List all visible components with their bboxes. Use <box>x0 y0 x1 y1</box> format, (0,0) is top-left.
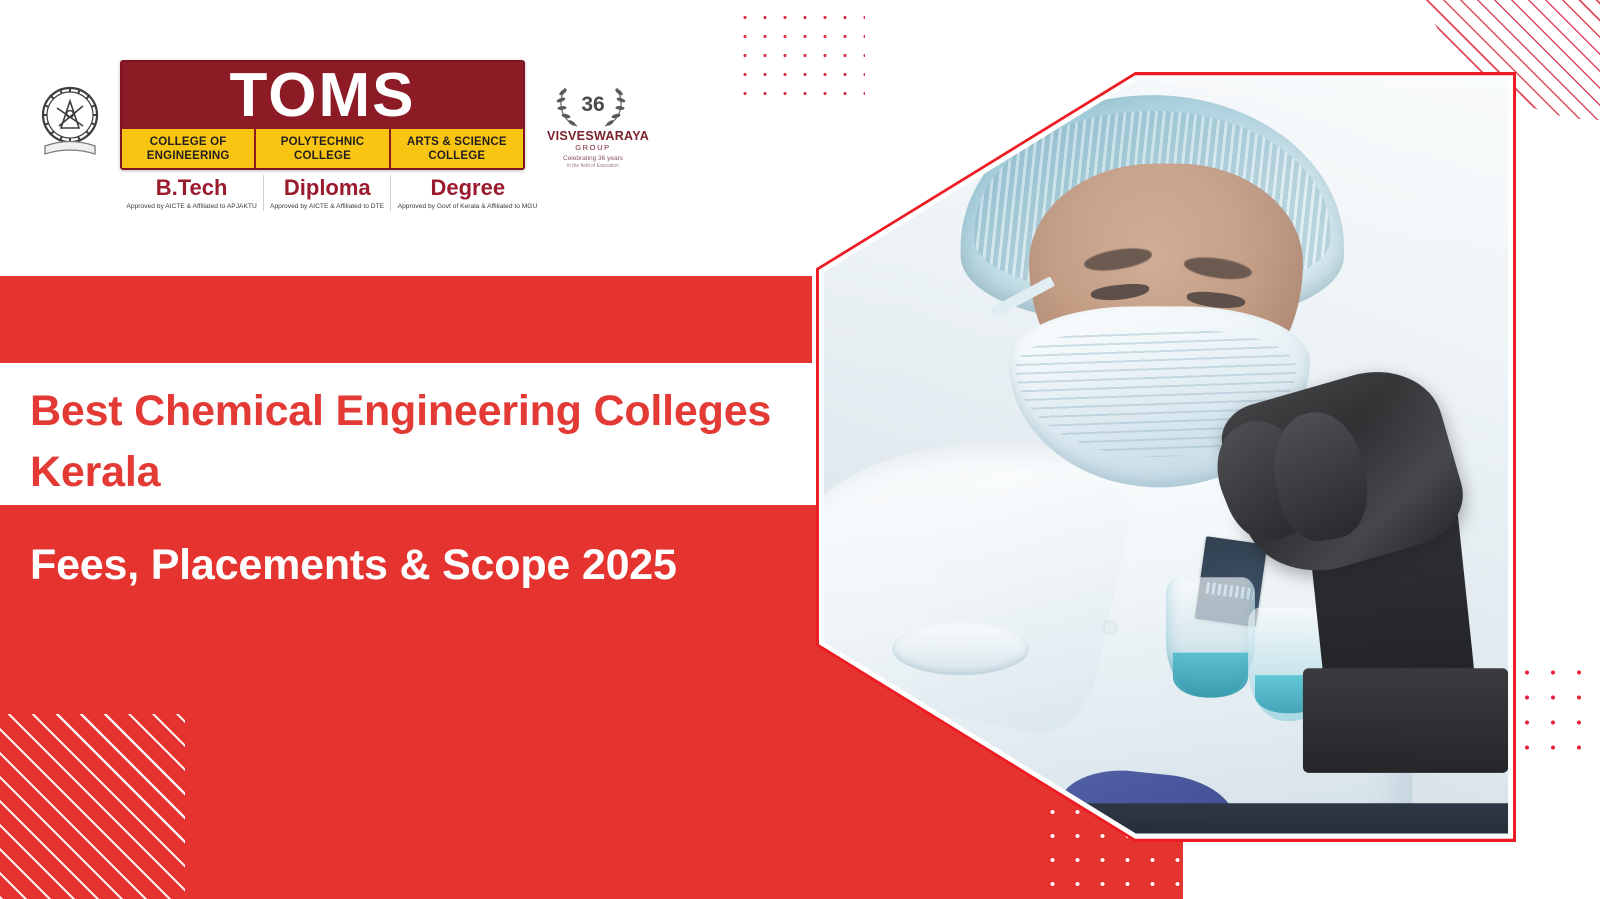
course-btech: B.Tech Approved by AICTE & Affiliated to… <box>120 175 264 212</box>
toms-crest-emblem-icon <box>34 84 106 164</box>
group-word: GROUP <box>547 143 639 152</box>
toms-acronym: TOMS <box>230 61 416 130</box>
anniversary-tagline: Celebrating 36 years <box>547 155 639 163</box>
division-arts-science: ARTS & SCIENCE COLLEGE <box>391 129 523 168</box>
hero-image-hexagon <box>816 72 1516 842</box>
course-strip: B.Tech Approved by AICTE & Affiliated to… <box>120 175 525 212</box>
red-band-upper <box>0 276 812 363</box>
group-name: VISVESWARAYA <box>547 130 639 143</box>
division-line-2: COLLEGE <box>258 149 386 163</box>
laboratory-scene-illustration <box>824 80 1509 833</box>
division-engineering: COLLEGE OF ENGINEERING <box>122 129 256 168</box>
anniversary-tagline-secondary: in the field of Education <box>547 163 639 169</box>
division-line-2: ENGINEERING <box>124 149 252 163</box>
toms-logo-card: TOMS COLLEGE OF ENGINEERING POLYTECHNIC … <box>120 60 525 170</box>
toms-division-bar: COLLEGE OF ENGINEERING POLYTECHNIC COLLE… <box>122 129 523 168</box>
toms-wordmark-block: TOMS COLLEGE OF ENGINEERING POLYTECHNIC … <box>120 60 525 211</box>
diagonal-stripe-pattern-bottom-left <box>0 714 185 899</box>
laurel-wreath-icon: 36 <box>547 78 639 130</box>
course-name: B.Tech <box>123 175 260 200</box>
division-line-1: ARTS & SCIENCE <box>393 135 521 149</box>
course-name: Diploma <box>267 175 387 200</box>
promo-banner: TOMS COLLEGE OF ENGINEERING POLYTECHNIC … <box>0 0 1600 899</box>
division-line-1: POLYTECHNIC <box>258 135 386 149</box>
toms-acronym-bar: TOMS <box>122 62 523 129</box>
hero-photo <box>824 80 1509 833</box>
course-name: Degree <box>394 175 541 200</box>
division-line-2: COLLEGE <box>393 149 521 163</box>
page-subtitle: Fees, Placements & Scope 2025 <box>30 536 790 596</box>
course-approval: Approved by AICTE & Affiliated to DTE <box>270 203 384 211</box>
page-title: Best Chemical Engineering Colleges Keral… <box>30 381 790 504</box>
course-diploma: Diploma Approved by AICTE & Affiliated t… <box>264 175 391 212</box>
course-approval: Approved by Govt of Kerala & Affiliated … <box>398 203 538 211</box>
course-approval: Approved by AICTE & Affiliated to APJAKT… <box>126 203 256 211</box>
brand-logo-lockup[interactable]: TOMS COLLEGE OF ENGINEERING POLYTECHNIC … <box>34 60 639 211</box>
course-degree: Degree Approved by Govt of Kerala & Affi… <box>391 175 544 212</box>
division-line-1: COLLEGE OF <box>124 135 252 149</box>
anniversary-seal: 36 VISVESWARAYA GROUP Celebrating 36 yea… <box>547 78 639 169</box>
division-polytechnic: POLYTECHNIC COLLEGE <box>256 129 390 168</box>
